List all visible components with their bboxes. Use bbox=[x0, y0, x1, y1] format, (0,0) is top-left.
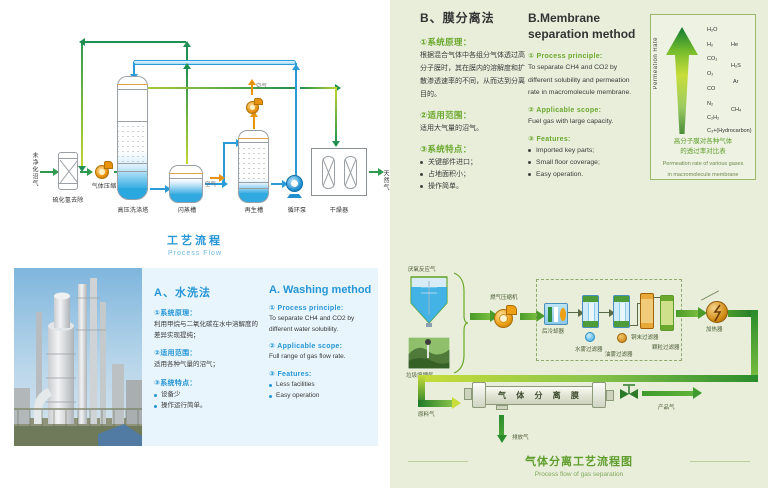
label-inlet: 未净化沼气 bbox=[30, 152, 39, 187]
pipe-blue-header bbox=[133, 60, 296, 65]
oil-droplet-icon bbox=[617, 333, 627, 343]
vessel-dryer bbox=[311, 148, 367, 196]
gas-separation-title-en: Process flow of gas separation bbox=[390, 471, 768, 478]
vessel-h2s-removal bbox=[58, 152, 78, 190]
membrane-cn-s3-item-1: 关键部件进口； bbox=[420, 157, 530, 169]
label-particle-filter: 颗粒过滤器 bbox=[652, 343, 680, 351]
pipe-air-out bbox=[251, 84, 253, 95]
washing-cn-s1-title: ①系统原理： bbox=[154, 308, 259, 318]
vessel-flash-tank bbox=[169, 165, 203, 203]
plant-photo bbox=[14, 268, 142, 446]
gas-separation-diagram: 厌氧反应气 垃圾填埋气 bbox=[390, 255, 768, 488]
process-flow-title: 工艺流程 Process Flow bbox=[0, 232, 390, 257]
membrane-heading-cn: B、膜分离法 bbox=[420, 10, 530, 26]
membrane-cn-s2-text: 适用大气量的沼气。 bbox=[420, 123, 530, 136]
membrane-inlet-flange bbox=[464, 388, 472, 400]
pipe-down-right bbox=[335, 87, 337, 145]
gas-c3-hydrocarbon: C₃+(Hydrocarbon) bbox=[707, 128, 752, 134]
pipe-product-out bbox=[642, 391, 694, 396]
arrow-to-compressor bbox=[87, 168, 93, 176]
membrane-en-section-1: ① Process principle: To separate CH4 and… bbox=[528, 52, 643, 99]
pipe-riser-3 bbox=[295, 68, 297, 185]
arrow-air-in bbox=[219, 174, 225, 182]
arrow-product-out bbox=[693, 387, 702, 399]
washing-cn-s3-item-1: 设备少 bbox=[154, 390, 259, 400]
circulation-pump-icon bbox=[286, 175, 306, 195]
membrane-cn-s3-title: ③系统特点： bbox=[420, 143, 530, 155]
arrow-up-1 bbox=[183, 41, 191, 47]
label-aftercooler: 后冷却器 bbox=[542, 327, 564, 335]
membrane-method-panel: B、膜分离法 ①系统原理： 根据混合气体中各组分气体透过高分子膜时，其在膜内的溶… bbox=[390, 0, 768, 200]
label-dryer: 干燥器 bbox=[324, 205, 354, 214]
gas-he: He bbox=[731, 42, 738, 48]
pipe-top-1 bbox=[81, 41, 186, 43]
membrane-cn-section-2: ②适用范围： 适用大气量的沼气。 bbox=[420, 109, 530, 136]
gas-compressor-icon bbox=[494, 305, 518, 327]
gas-c2h2: C₂H₂ bbox=[707, 115, 719, 121]
oil-mist-filter-icon bbox=[613, 295, 630, 328]
membrane-en-s2-text: Fuel gas with large capacity. bbox=[528, 116, 643, 128]
permeation-caption: 高分子膜对各种气体 的透过率对比表 Permeation rate of var… bbox=[651, 137, 755, 179]
label-vent-gas: 排放气 bbox=[512, 433, 529, 441]
right-column: B、膜分离法 ①系统原理： 根据混合气体中各组分气体透过高分子膜时，其在膜内的溶… bbox=[390, 0, 768, 488]
washing-cn-s2-title: ②适用范围： bbox=[154, 348, 259, 358]
aftercooler-icon bbox=[544, 303, 568, 325]
washing-en-s3-title: ③ Features: bbox=[269, 370, 374, 378]
membrane-cn-s3-item-2: 占地面积小； bbox=[420, 169, 530, 181]
pipe-right-down bbox=[751, 310, 758, 382]
label-air-out: 空气 bbox=[256, 82, 267, 90]
permeation-caption-cn-1: 高分子膜对各种气体 bbox=[651, 137, 755, 147]
pipe-to-regen-top bbox=[223, 142, 237, 144]
label-oil-filter: 油雾过滤器 bbox=[605, 350, 633, 358]
permeation-axis-label: Permeation Rate bbox=[653, 37, 659, 90]
arrow-air-out bbox=[248, 79, 256, 85]
membrane-col-en: B.Membrane separation method ① Process p… bbox=[528, 10, 643, 188]
label-membrane: 气 体 分 离 膜 bbox=[498, 390, 583, 401]
label-gas-compressor: 燃气压缩机 bbox=[490, 293, 518, 301]
washing-en-s1-text: To separate CH4 and CO2 by different wat… bbox=[269, 314, 374, 335]
washing-en-s3-item-1: Less facilities bbox=[269, 380, 374, 390]
label-regen-tank: 再生槽 bbox=[240, 205, 268, 214]
arrow-to-feed bbox=[452, 397, 461, 409]
permeation-arrow-icon bbox=[665, 27, 699, 135]
membrane-outlet-flange bbox=[606, 390, 614, 401]
membrane-en-s1-text: To separate CH4 and CO2 by different sol… bbox=[528, 62, 643, 99]
pipe-down-left bbox=[81, 41, 83, 170]
poster-root: 未净化沼气 硫化氢去除 气体压缩 bbox=[0, 0, 768, 488]
membrane-en-s1-title: ① Process principle: bbox=[528, 52, 643, 60]
washing-cn-section-1: ①系统原理： 利用甲烷与二氧化碳在水中溶解度的差异实现提纯； bbox=[154, 308, 259, 341]
washing-cn-section-2: ②适用范围： 适用各种气量的沼气； bbox=[154, 348, 259, 371]
pipe-oil-filter-out-v bbox=[637, 303, 638, 326]
vent-flange bbox=[496, 405, 508, 410]
pipe-mid-2 bbox=[300, 87, 340, 89]
heater-icon bbox=[706, 301, 728, 323]
pipe-source-to-compressor bbox=[470, 313, 492, 320]
permeation-caption-en-1: Permeation rate of various gases bbox=[651, 160, 755, 168]
washing-en-s2-title: ② Applicable scope: bbox=[269, 342, 374, 350]
vessel-regen-tank bbox=[238, 130, 269, 203]
membrane-en-s2-title: ② Applicable scope: bbox=[528, 106, 643, 114]
washing-cn-s2-text: 适用各种气量的沼气； bbox=[154, 360, 259, 371]
washing-cn-s3-title: ③系统特点： bbox=[154, 378, 259, 388]
label-scrubber-tower: 高压洗涤塔 bbox=[112, 205, 154, 214]
anaerobic-tank-icon bbox=[408, 275, 450, 327]
gas-h2s: H₂S bbox=[731, 63, 741, 69]
pipe-to-flash bbox=[150, 188, 166, 190]
washing-cn-s3-item-2: 操作运行简单。 bbox=[154, 401, 259, 411]
process-flow-title-en: Process Flow bbox=[0, 250, 390, 257]
washing-text-columns: A、水洗法 ①系统原理： 利用甲烷与二氧化碳在水中溶解度的差异实现提纯； ②适用… bbox=[154, 268, 374, 446]
heater-lead bbox=[701, 290, 719, 300]
washing-en-s2-text: Full range of gas flow rate. bbox=[269, 352, 374, 363]
washing-method-panel: A、水洗法 ①系统原理： 利用甲烷与二氧化碳在水中溶解度的差异实现提纯； ②适用… bbox=[14, 268, 378, 446]
pipe-to-heater bbox=[676, 310, 700, 317]
arrow-up-3 bbox=[292, 64, 300, 70]
title-rule-left bbox=[408, 461, 468, 462]
label-air-in: 空气 bbox=[205, 180, 216, 188]
copper-filter-icon bbox=[640, 293, 654, 329]
permeation-caption-cn-2: 的透过率对比表 bbox=[651, 147, 755, 157]
arrow-up-2 bbox=[183, 63, 191, 69]
membrane-en-section-2: ② Applicable scope: Fuel gas with large … bbox=[528, 106, 643, 128]
label-h2s-removal: 硫化氢去除 bbox=[48, 195, 88, 204]
water-mist-filter-icon bbox=[582, 295, 599, 328]
label-water-filter: 水雾过滤器 bbox=[575, 345, 603, 353]
label-outlet: 天然气 bbox=[381, 170, 390, 191]
washing-en-s3-item-2: Easy operation bbox=[269, 391, 374, 401]
membrane-en-s3-item-1: Imported key parts; bbox=[528, 145, 643, 157]
membrane-col-cn: B、膜分离法 ①系统原理： 根据混合气体中各组分气体透过高分子膜时，其在膜内的溶… bbox=[420, 10, 530, 201]
arrow-left-top bbox=[79, 38, 85, 46]
label-flash-tank: 闪蒸槽 bbox=[172, 205, 202, 214]
washing-en-s1-title: ① Process principle: bbox=[269, 304, 374, 312]
membrane-en-s3-item-3: Easy operation. bbox=[528, 169, 643, 181]
label-feed-gas: 原料气 bbox=[418, 410, 435, 418]
washing-cn-s1-text: 利用甲烷与二氧化碳在水中溶解度的差异实现提纯； bbox=[154, 320, 259, 341]
washing-heading-cn: A、水洗法 bbox=[154, 284, 259, 300]
gas-h2o: H₂O bbox=[707, 27, 717, 33]
membrane-en-section-3: ③ Features: Imported key parts; Small fl… bbox=[528, 135, 643, 181]
pipe-to-feed bbox=[418, 400, 454, 407]
label-circ-pump: 循环泵 bbox=[283, 205, 311, 214]
membrane-cn-section-3: ③系统特点： 关键部件进口； 占地面积小； 操作简单。 bbox=[420, 143, 530, 194]
washing-en-section-1: ① Process principle: To separate CH4 and… bbox=[269, 304, 374, 335]
landfill-photo bbox=[408, 337, 450, 369]
membrane-en-s3-item-2: Small floor coverage; bbox=[528, 157, 643, 169]
gas-ch4: CH₄ bbox=[731, 107, 741, 113]
washing-col-cn: A、水洗法 ①系统原理： 利用甲烷与二氧化碳在水中溶解度的差异实现提纯； ②适用… bbox=[154, 268, 259, 446]
gas-o2: O₂ bbox=[707, 71, 713, 77]
membrane-left-cap bbox=[472, 382, 486, 408]
pipe-inlet bbox=[40, 171, 54, 173]
arrow-down-right bbox=[332, 141, 340, 147]
pipe-regen-top bbox=[253, 116, 255, 129]
permeation-caption-en-2: in macromolecule membrane bbox=[651, 171, 755, 179]
pipe-vent bbox=[499, 415, 504, 437]
permeation-rate-chart: Permeation Rate H₂O H₂ bbox=[650, 14, 756, 180]
membrane-cn-section-1: ①系统原理： 根据混合气体中各组分气体透过高分子膜时，其在膜内的溶解度和扩散渗透… bbox=[420, 36, 530, 102]
water-droplet-icon bbox=[585, 332, 595, 342]
membrane-heading-en: B.Membrane separation method bbox=[528, 10, 643, 42]
label-copper-filter: 铜末过滤器 bbox=[631, 333, 659, 341]
washing-cn-section-3: ③系统特点： 设备少 操作运行简单。 bbox=[154, 378, 259, 411]
membrane-cn-s1-text: 根据混合气体中各组分气体透过高分子膜时，其在膜内的溶解度和扩散渗透速率的不同，从… bbox=[420, 50, 530, 102]
arrow-vent bbox=[497, 435, 507, 443]
membrane-cn-s3-item-3: 操作简单。 bbox=[420, 181, 530, 193]
membrane-cn-s2-title: ②适用范围： bbox=[420, 109, 530, 121]
gas-ar: Ar bbox=[733, 79, 739, 85]
vessel-scrubber-tower bbox=[117, 76, 148, 200]
label-heater: 加热器 bbox=[706, 325, 723, 333]
membrane-en-s3-title: ③ Features: bbox=[528, 135, 643, 143]
blower-icon bbox=[246, 98, 264, 114]
washing-en-section-2: ② Applicable scope: Full range of gas fl… bbox=[269, 342, 374, 363]
compressor-icon bbox=[95, 161, 113, 179]
gas-separation-title: 气体分离工艺流程图 Process flow of gas separation bbox=[390, 453, 768, 478]
gas-co: CO bbox=[707, 86, 715, 92]
washing-col-en: A. Washing method ① Process principle: T… bbox=[269, 268, 374, 446]
source-brace bbox=[452, 271, 468, 375]
title-rule-right bbox=[690, 461, 750, 462]
label-product-gas: 产品气 bbox=[658, 403, 675, 411]
gas-n2: N₂ bbox=[707, 101, 713, 107]
process-flow-diagram: 未净化沼气 硫化氢去除 气体压缩 bbox=[0, 0, 390, 265]
process-flow-title-cn: 工艺流程 bbox=[0, 232, 390, 248]
washing-en-section-3: ③ Features: Less facilities Easy operati… bbox=[269, 370, 374, 401]
pipe-riser-2 bbox=[186, 68, 188, 164]
left-column: 未净化沼气 硫化氢去除 气体压缩 bbox=[0, 0, 390, 488]
label-source-anaerobic: 厌氧反应气 bbox=[408, 265, 436, 273]
membrane-right-cap bbox=[592, 382, 606, 408]
washing-heading-en: A. Washing method bbox=[269, 284, 374, 296]
membrane-cn-s1-title: ①系统原理： bbox=[420, 36, 530, 48]
valve-icon bbox=[616, 383, 642, 405]
particle-filter-icon bbox=[660, 295, 674, 331]
pipe-return-horizontal bbox=[418, 375, 758, 382]
gas-co2: CO₂ bbox=[707, 56, 717, 62]
gas-h2: H₂ bbox=[707, 42, 713, 48]
